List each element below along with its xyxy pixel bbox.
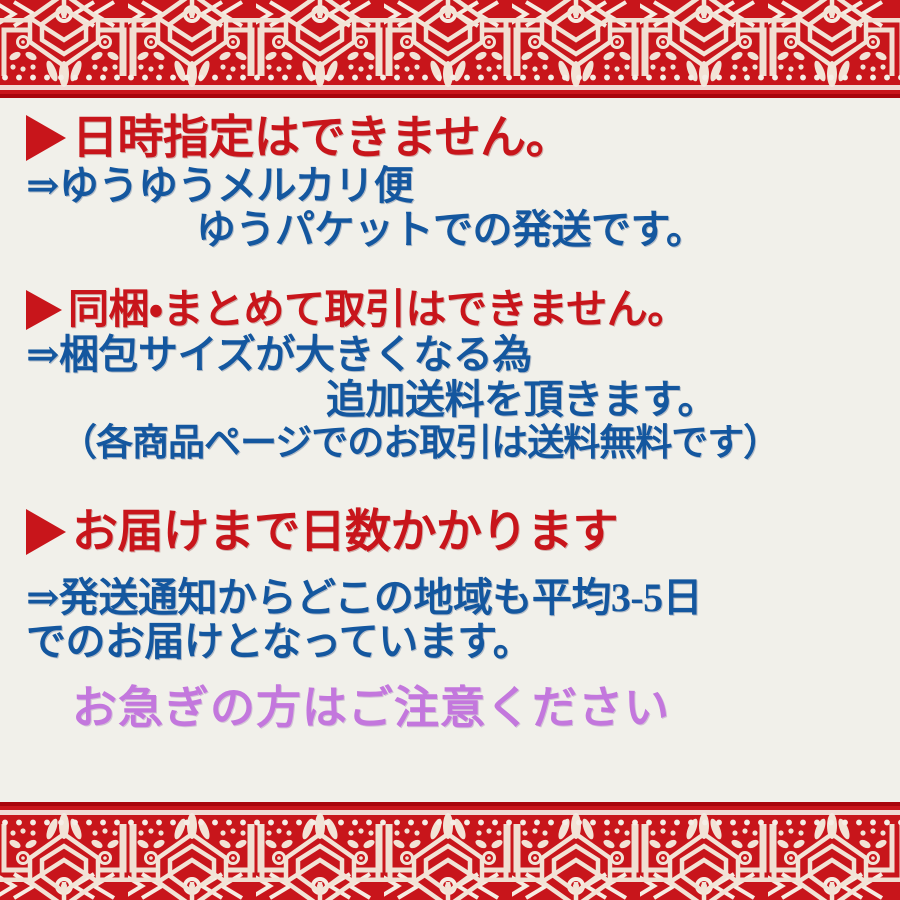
section-1-line-1: ⇒ゆうゆうメルカリ便 — [26, 164, 874, 209]
flower-sprig-icon — [518, 826, 552, 866]
flower-sprig-icon — [262, 826, 296, 866]
flower-sprig-icon — [134, 34, 168, 74]
border-rail — [0, 802, 900, 806]
bottom-decorative-border — [0, 802, 900, 900]
border-rail — [0, 810, 900, 815]
border-motif-tile — [768, 802, 896, 900]
border-dot-row — [0, 73, 900, 82]
top-decorative-border — [0, 0, 900, 98]
flower-sprig-icon — [774, 34, 808, 74]
closing-warning: お急ぎの方はご注意ください — [26, 683, 874, 733]
spacer — [26, 464, 874, 506]
section-2-note: （各商品ページでのお取引は送料無料です） — [26, 423, 874, 464]
section-2-line-2: 追加送料を頂きます。 — [26, 378, 874, 423]
flower-sprig-icon — [6, 34, 40, 74]
border-pattern-tiles — [0, 0, 900, 98]
flower-sprig-icon — [646, 34, 680, 74]
spacer — [26, 253, 874, 287]
flower-sprig-icon — [134, 826, 168, 866]
border-motif-tile — [768, 0, 896, 98]
flower-sprig-icon — [774, 826, 808, 866]
triangle-right-icon — [26, 509, 66, 555]
flower-sprig-icon — [262, 34, 296, 74]
section-heading-3: お届けまで日数かかります — [26, 506, 874, 558]
section-heading-3-text: お届けまで日数かかります — [72, 506, 618, 558]
border-rail — [0, 85, 900, 90]
triangle-right-icon — [26, 290, 62, 330]
flower-sprig-icon — [646, 826, 680, 866]
section-3-line-2: でのお届けとなっています。 — [26, 620, 874, 665]
flower-sprig-icon — [390, 34, 424, 74]
border-pattern-tiles — [0, 802, 900, 900]
section-heading-1: 日時指定はできません。 — [26, 112, 874, 164]
notice-content: 日時指定はできません。 ⇒ゆうゆうメルカリ便 ゆうパケットでの発送です。 同梱・… — [0, 98, 900, 802]
triangle-right-icon — [26, 115, 66, 161]
flower-sprig-icon — [856, 826, 890, 866]
section-2-line-1: ⇒梱包サイズが大きくなる為 — [26, 333, 874, 378]
spacer — [26, 665, 874, 683]
section-1-line-2: ゆうパケットでの発送です。 — [26, 208, 874, 253]
section-3-line-1: ⇒発送通知からどこの地域も平均3-5日 — [26, 576, 874, 621]
spacer — [26, 558, 874, 576]
flower-sprig-icon — [390, 826, 424, 866]
section-heading-1-text: 日時指定はできません。 — [72, 112, 571, 164]
flower-sprig-icon — [856, 34, 890, 74]
section-heading-2: 同梱・まとめて取引はできません。 — [26, 287, 874, 333]
flower-sprig-icon — [518, 34, 552, 74]
border-dot-row — [0, 818, 900, 827]
shipping-notice-card: 日時指定はできません。 ⇒ゆうゆうメルカリ便 ゆうパケットでの発送です。 同梱・… — [0, 0, 900, 900]
section-heading-2-text: 同梱・まとめて取引はできません。 — [68, 287, 688, 333]
flower-sprig-icon — [6, 826, 40, 866]
